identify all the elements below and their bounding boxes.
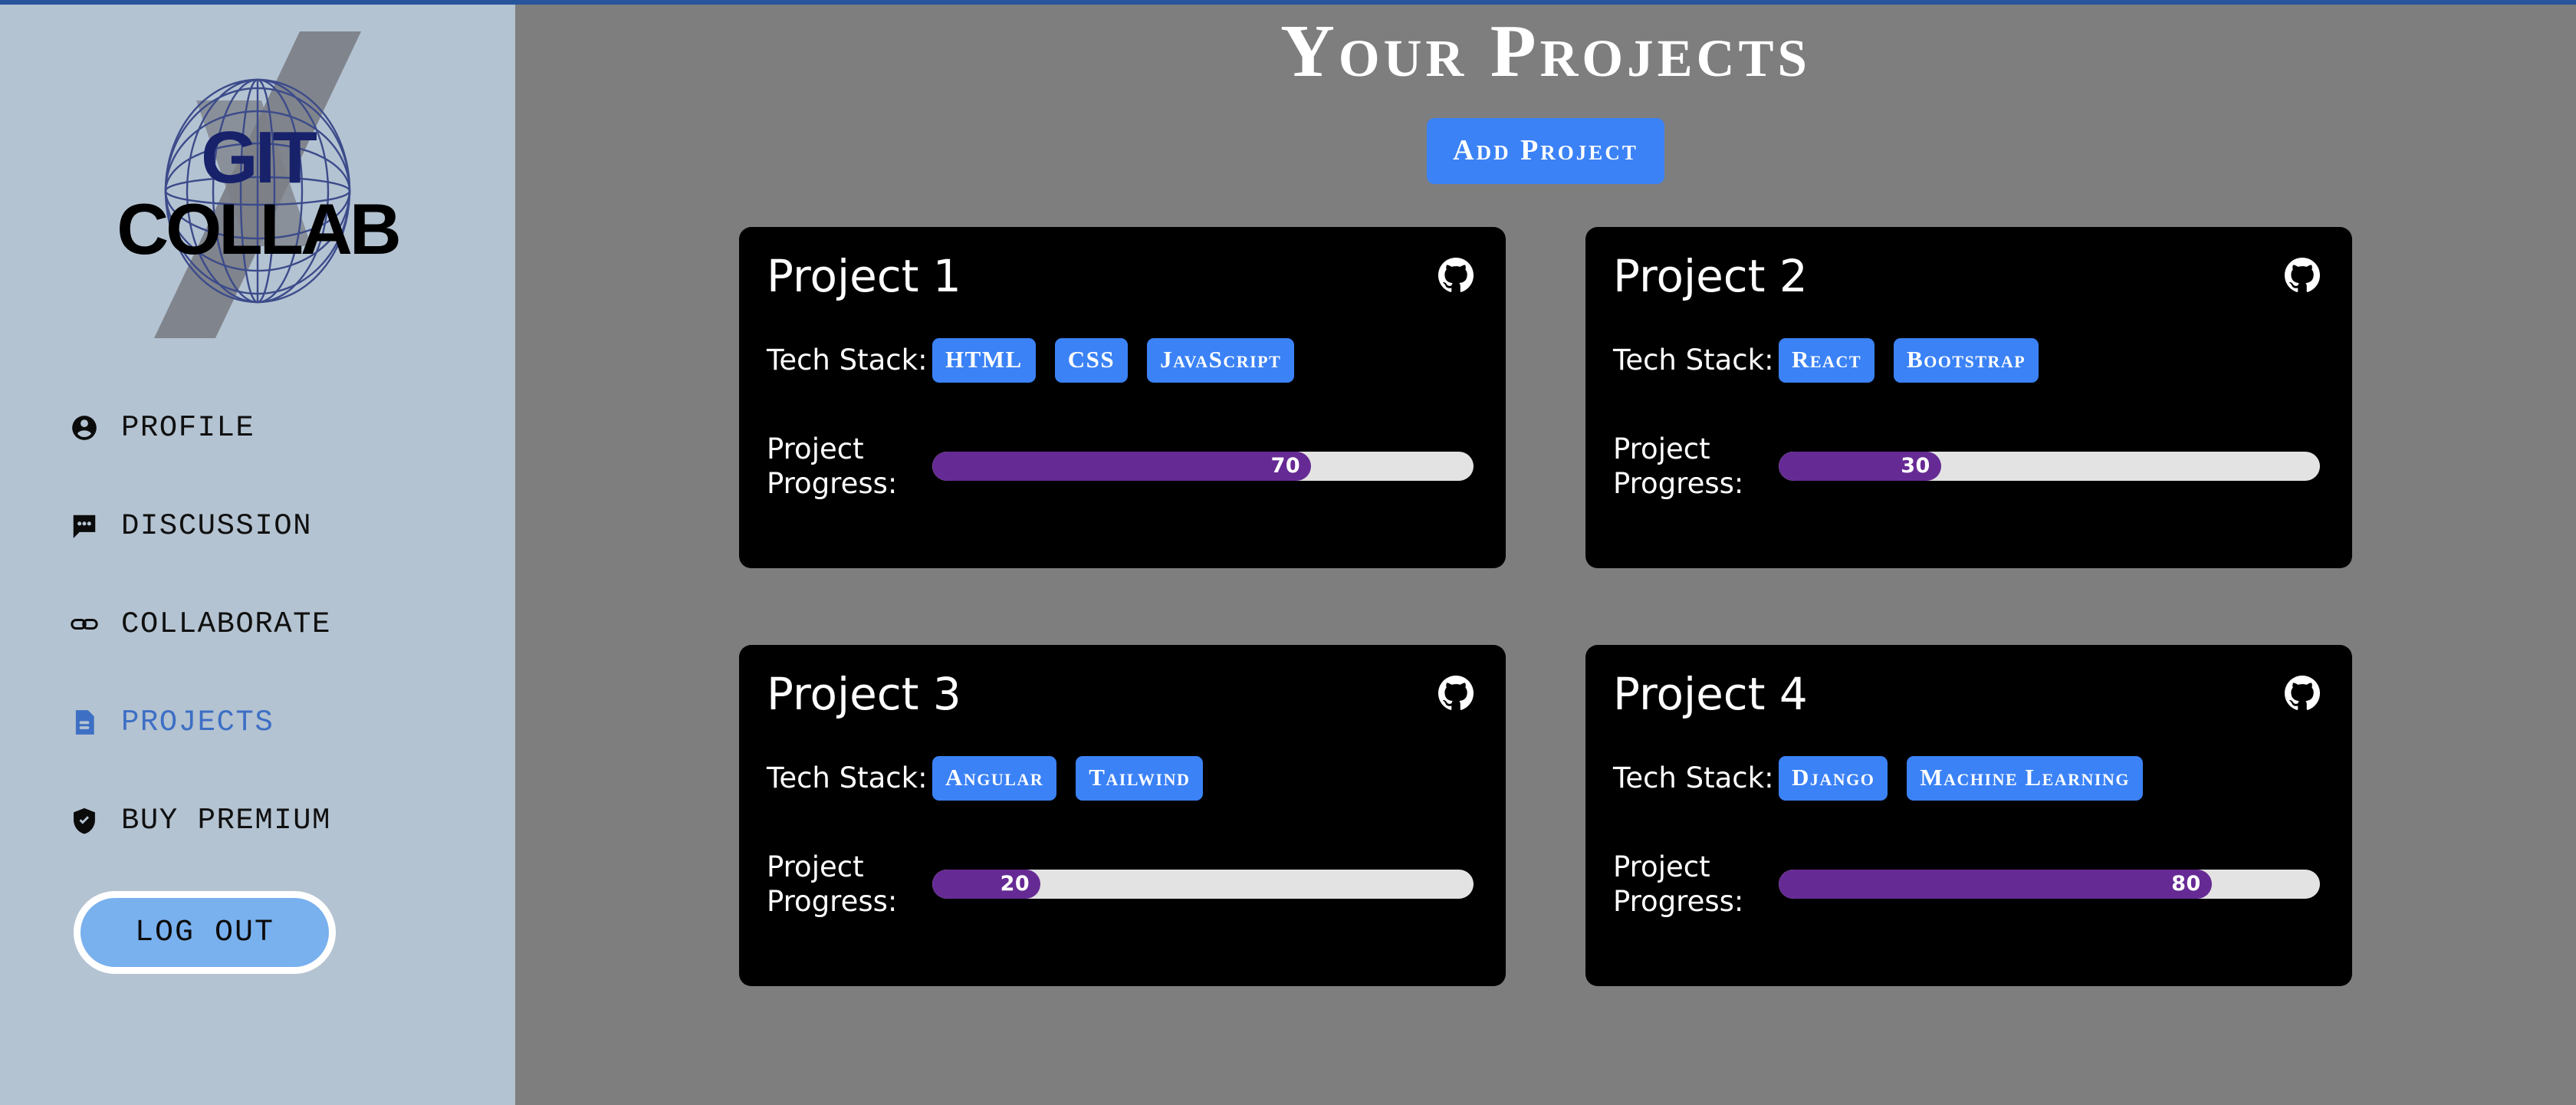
tech-badge-label: Tailwind	[1089, 764, 1190, 791]
tech-badge[interactable]: React	[1779, 338, 1875, 383]
card-header: Project 2	[1613, 253, 2320, 300]
logout-container: Log Out	[0, 891, 515, 974]
project-card: Project 4Tech Stack:DjangoMachine Learni…	[1585, 645, 2352, 986]
progress-bar[interactable]: 70	[932, 452, 1474, 481]
github-icon[interactable]	[2285, 676, 2320, 711]
tech-badge[interactable]: JavaScript	[1147, 338, 1294, 383]
globe-wireframe-icon	[104, 16, 411, 354]
add-project-container: Add Project	[515, 118, 2576, 184]
top-accent-bar	[0, 0, 2576, 5]
sidebar-item-profile[interactable]: Profile	[0, 379, 515, 477]
tech-badge-list: AngularTailwind	[932, 756, 1203, 801]
sidebar-item-label: Discussion	[121, 509, 312, 543]
project-progress-row: Project Progress:20	[767, 850, 1474, 919]
project-card: Project 2Tech Stack:ReactBootstrapProjec…	[1585, 227, 2352, 568]
progress-value: 30	[1901, 454, 1930, 478]
card-header: Project 1	[767, 253, 1474, 300]
project-progress-row: Project Progress:80	[1613, 850, 2320, 919]
project-progress-label: Project Progress:	[767, 432, 932, 501]
account-circle-icon	[69, 413, 100, 443]
tech-stack-label: Tech Stack:	[767, 344, 932, 377]
tech-badge[interactable]: Machine Learning	[1907, 756, 2143, 801]
tech-badge-label: JavaScript	[1160, 346, 1281, 373]
progress-bar-fill: 30	[1779, 452, 1941, 481]
sidebar-item-label: Buy Premium	[121, 804, 331, 837]
document-icon	[69, 707, 100, 738]
tech-badge-label: Angular	[945, 764, 1043, 791]
progress-bar-fill: 20	[932, 870, 1040, 899]
sidebar-item-collaborate[interactable]: Collaborate	[0, 575, 515, 673]
sidebar-item-label: Collaborate	[121, 607, 331, 641]
progress-value: 70	[1271, 454, 1301, 478]
tech-badge[interactable]: Django	[1779, 756, 1888, 801]
project-card: Project 1Tech Stack:HTMLCSSJavaScriptPro…	[739, 227, 1506, 568]
progress-bar[interactable]: 80	[1779, 870, 2320, 899]
project-progress-row: Project Progress:70	[767, 432, 1474, 501]
sidebar-item-projects[interactable]: Projects	[0, 673, 515, 771]
progress-bar[interactable]: 30	[1779, 452, 2320, 481]
tech-badge[interactable]: CSS	[1055, 338, 1128, 383]
tech-stack-label: Tech Stack:	[767, 761, 932, 794]
tech-badge[interactable]: Tailwind	[1076, 756, 1203, 801]
project-card: Project 3Tech Stack:AngularTailwindProje…	[739, 645, 1506, 986]
project-title: Project 4	[1613, 671, 1808, 718]
app-root: GIT COLLAB Profile Discussion	[0, 0, 2576, 1105]
progress-bar[interactable]: 20	[932, 870, 1474, 899]
projects-grid: Project 1Tech Stack:HTMLCSSJavaScriptPro…	[739, 227, 2352, 986]
shield-check-icon	[69, 805, 100, 836]
add-project-button-label: Add Project	[1453, 134, 1638, 166]
tech-badge-list: HTMLCSSJavaScript	[932, 338, 1294, 383]
tech-badge-label: Django	[1792, 764, 1875, 791]
card-header: Project 3	[767, 671, 1474, 718]
tech-badge[interactable]: Angular	[932, 756, 1056, 801]
brand-logo[interactable]: GIT COLLAB	[0, 5, 515, 365]
card-header: Project 4	[1613, 671, 2320, 718]
project-progress-row: Project Progress:30	[1613, 432, 2320, 501]
page-title: Your Projects	[515, 11, 2576, 94]
tech-badge-label: HTML	[945, 346, 1023, 373]
sidebar-item-buy-premium[interactable]: Buy Premium	[0, 771, 515, 870]
tech-badge-label: CSS	[1068, 346, 1115, 373]
tech-stack-label: Tech Stack:	[1613, 344, 1779, 377]
sidebar-item-label: Projects	[121, 705, 274, 739]
link-chain-icon	[69, 609, 100, 640]
tech-badge-list: DjangoMachine Learning	[1779, 756, 2143, 801]
logout-button-label: Log Out	[135, 916, 274, 950]
project-title: Project 3	[767, 671, 961, 718]
tech-stack-row: Tech Stack:AngularTailwind	[767, 756, 1474, 801]
tech-badge-label: Machine Learning	[1920, 764, 2130, 791]
sidebar-item-discussion[interactable]: Discussion	[0, 477, 515, 575]
tech-badge[interactable]: HTML	[932, 338, 1036, 383]
tech-badge-label: Bootstrap	[1907, 346, 2026, 373]
tech-badge-label: React	[1792, 346, 1861, 373]
tech-stack-row: Tech Stack:HTMLCSSJavaScript	[767, 338, 1474, 383]
main-content: Your Projects Add Project Project 1Tech …	[515, 0, 2576, 1105]
tech-stack-row: Tech Stack:ReactBootstrap	[1613, 338, 2320, 383]
project-title: Project 2	[1613, 253, 1808, 300]
project-progress-label: Project Progress:	[1613, 850, 1779, 919]
chat-bubble-icon	[69, 511, 100, 541]
sidebar: GIT COLLAB Profile Discussion	[0, 0, 515, 1105]
logout-button[interactable]: Log Out	[74, 891, 336, 974]
sidebar-item-label: Profile	[121, 411, 255, 445]
tech-badge[interactable]: Bootstrap	[1894, 338, 2039, 383]
progress-value: 80	[2171, 872, 2201, 896]
sidebar-nav: Profile Discussion Collaborate Projects	[0, 379, 515, 870]
github-icon[interactable]	[2285, 258, 2320, 293]
tech-stack-row: Tech Stack:DjangoMachine Learning	[1613, 756, 2320, 801]
progress-bar-fill: 70	[932, 452, 1311, 481]
progress-value: 20	[1001, 872, 1030, 896]
progress-bar-fill: 80	[1779, 870, 2212, 899]
project-title: Project 1	[767, 253, 961, 300]
github-icon[interactable]	[1438, 676, 1474, 711]
github-icon[interactable]	[1438, 258, 1474, 293]
tech-badge-list: ReactBootstrap	[1779, 338, 2039, 383]
project-progress-label: Project Progress:	[767, 850, 932, 919]
tech-stack-label: Tech Stack:	[1613, 761, 1779, 794]
add-project-button[interactable]: Add Project	[1427, 118, 1664, 184]
project-progress-label: Project Progress:	[1613, 432, 1779, 501]
